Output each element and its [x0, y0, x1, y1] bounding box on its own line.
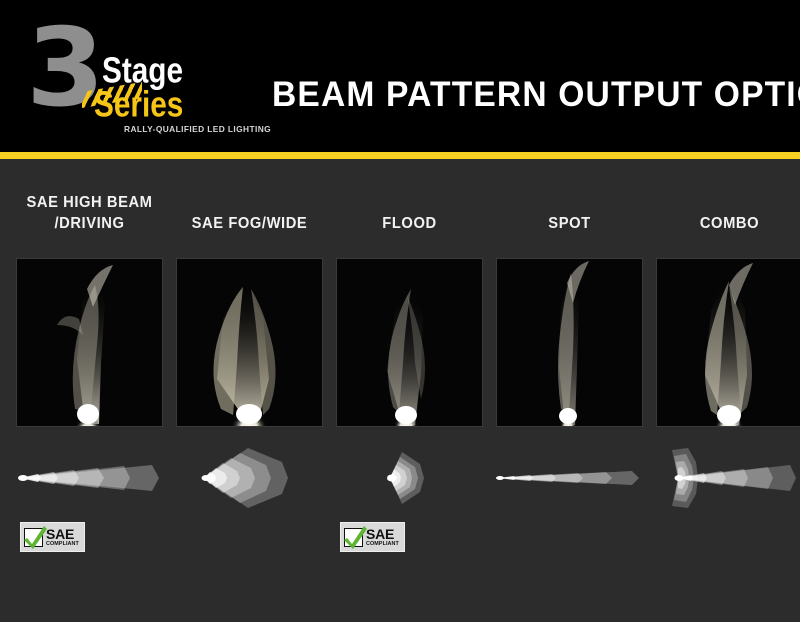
accent-divider-bar — [0, 152, 800, 159]
check-box — [24, 528, 43, 547]
beam-photo-flood — [336, 258, 483, 427]
badge-compliant-label: COMPLIANT — [46, 542, 79, 547]
page-title: BEAM PATTERN OUTPUT OPTIONS — [272, 72, 762, 118]
column-sae-high-beam-driving: SAE HIGH BEAM /DRIVING — [16, 159, 163, 622]
beam-pattern-infographic: 3 Stage Series RALLY-QUALIFIED LED LIGHT… — [0, 0, 800, 622]
column-header-line1: SAE HIGH BEAM — [20, 192, 160, 213]
header-bar: 3 Stage Series RALLY-QUALIFIED LED LIGHT… — [0, 0, 800, 152]
beam-diagram-sae-fog-wide — [176, 442, 323, 514]
column-header-line1: SAE FOG/WIDE — [180, 213, 320, 234]
beam-photo-spot — [496, 258, 643, 427]
beam-diagram-spot — [496, 442, 643, 514]
stage-series-logo: 3 Stage Series RALLY-QUALIFIED LED LIGHT… — [26, 26, 241, 134]
badge-sae-label: SAE — [46, 527, 79, 541]
column-header: COMBO — [660, 213, 800, 234]
sae-compliant-badge: SAE COMPLIANT — [20, 522, 85, 552]
logo-word-series: Series — [94, 86, 183, 123]
column-flood: FLOOD — [336, 159, 483, 622]
column-header-line2: /DRIVING — [20, 213, 160, 234]
badge-text: SAE COMPLIANT — [46, 527, 79, 547]
column-header-line1: FLOOD — [340, 213, 480, 234]
column-header: SAE FOG/WIDE — [180, 213, 320, 234]
column-header: FLOOD — [340, 213, 480, 234]
beam-photo-combo — [656, 258, 800, 427]
column-header: SPOT — [500, 213, 640, 234]
column-spot: SPOT — [496, 159, 643, 622]
check-icon — [23, 524, 47, 550]
column-combo: COMBO — [656, 159, 800, 622]
column-header: SAE HIGH BEAM /DRIVING — [20, 192, 160, 234]
beam-diagram-sae-high-beam-driving — [16, 442, 163, 514]
beam-diagram-flood — [336, 442, 483, 514]
column-header-line1: COMBO — [660, 213, 800, 234]
logo-tagline: RALLY-QUALIFIED LED LIGHTING — [124, 125, 271, 134]
beam-diagram-combo — [656, 442, 800, 514]
beam-photo-sae-high-beam-driving — [16, 258, 163, 427]
column-sae-fog-wide: SAE FOG/WIDE — [176, 159, 323, 622]
beam-photo-sae-fog-wide — [176, 258, 323, 427]
column-header-line1: SPOT — [500, 213, 640, 234]
